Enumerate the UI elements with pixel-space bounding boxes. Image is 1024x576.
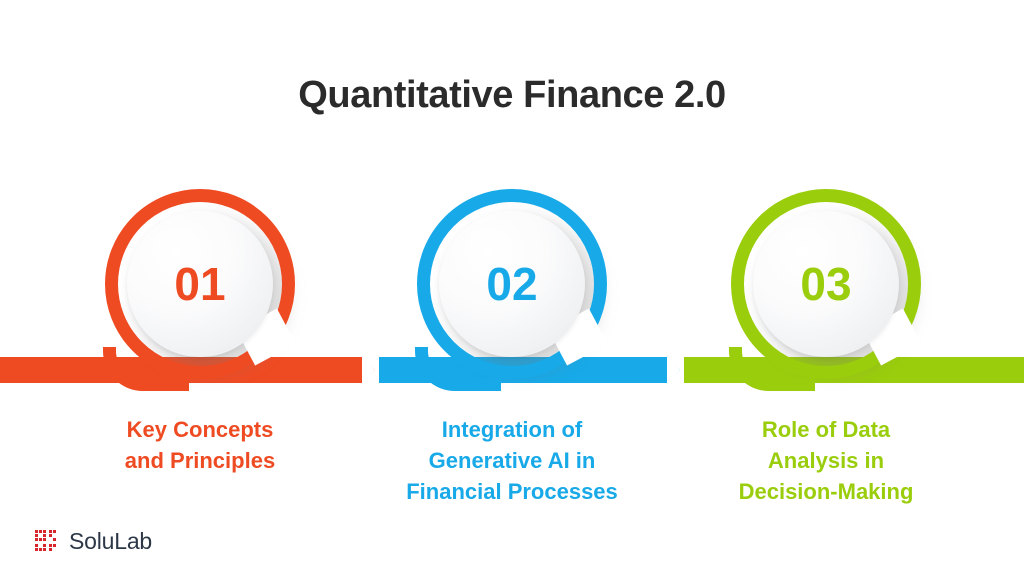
step-2-caption-line-3: Financial Processes bbox=[362, 476, 662, 507]
logo[interactable]: SoluLab bbox=[34, 528, 152, 555]
step-3-disc: 03 bbox=[753, 211, 899, 357]
step-2-caption: Integration of Generative AI in Financia… bbox=[362, 414, 662, 508]
step-3-caption-line-3: Decision-Making bbox=[676, 476, 976, 507]
step-1-caption-line-2: and Principles bbox=[50, 445, 350, 476]
step-1-caption: Key Concepts and Principles bbox=[50, 414, 350, 476]
step-2-caption-line-2: Generative AI in bbox=[362, 445, 662, 476]
step-3-caption: Role of Data Analysis in Decision-Making bbox=[676, 414, 976, 508]
step-node-3[interactable]: 03 bbox=[731, 189, 921, 379]
band-notch-1 bbox=[362, 356, 375, 384]
solulab-qr-mark-icon bbox=[34, 529, 60, 555]
step-1-caption-line-1: Key Concepts bbox=[50, 414, 350, 445]
band-notch-2 bbox=[667, 356, 680, 384]
step-node-1[interactable]: 01 bbox=[105, 189, 295, 379]
logo-text: SoluLab bbox=[69, 528, 152, 555]
page-title: Quantitative Finance 2.0 bbox=[0, 74, 1024, 117]
infographic-slide: Quantitative Finance 2.0 01 bbox=[0, 0, 1024, 576]
step-3-number: 03 bbox=[800, 261, 851, 307]
step-2-ring-tail bbox=[415, 347, 501, 391]
step-node-2[interactable]: 02 bbox=[417, 189, 607, 379]
step-2-disc: 02 bbox=[439, 211, 585, 357]
step-3-caption-line-1: Role of Data bbox=[676, 414, 976, 445]
step-2-caption-line-1: Integration of bbox=[362, 414, 662, 445]
step-1-ring-tail bbox=[103, 347, 189, 391]
step-2-number: 02 bbox=[486, 261, 537, 307]
step-3-caption-line-2: Analysis in bbox=[676, 445, 976, 476]
step-1-number: 01 bbox=[174, 261, 225, 307]
step-1-disc: 01 bbox=[127, 211, 273, 357]
step-3-ring-tail bbox=[729, 347, 815, 391]
